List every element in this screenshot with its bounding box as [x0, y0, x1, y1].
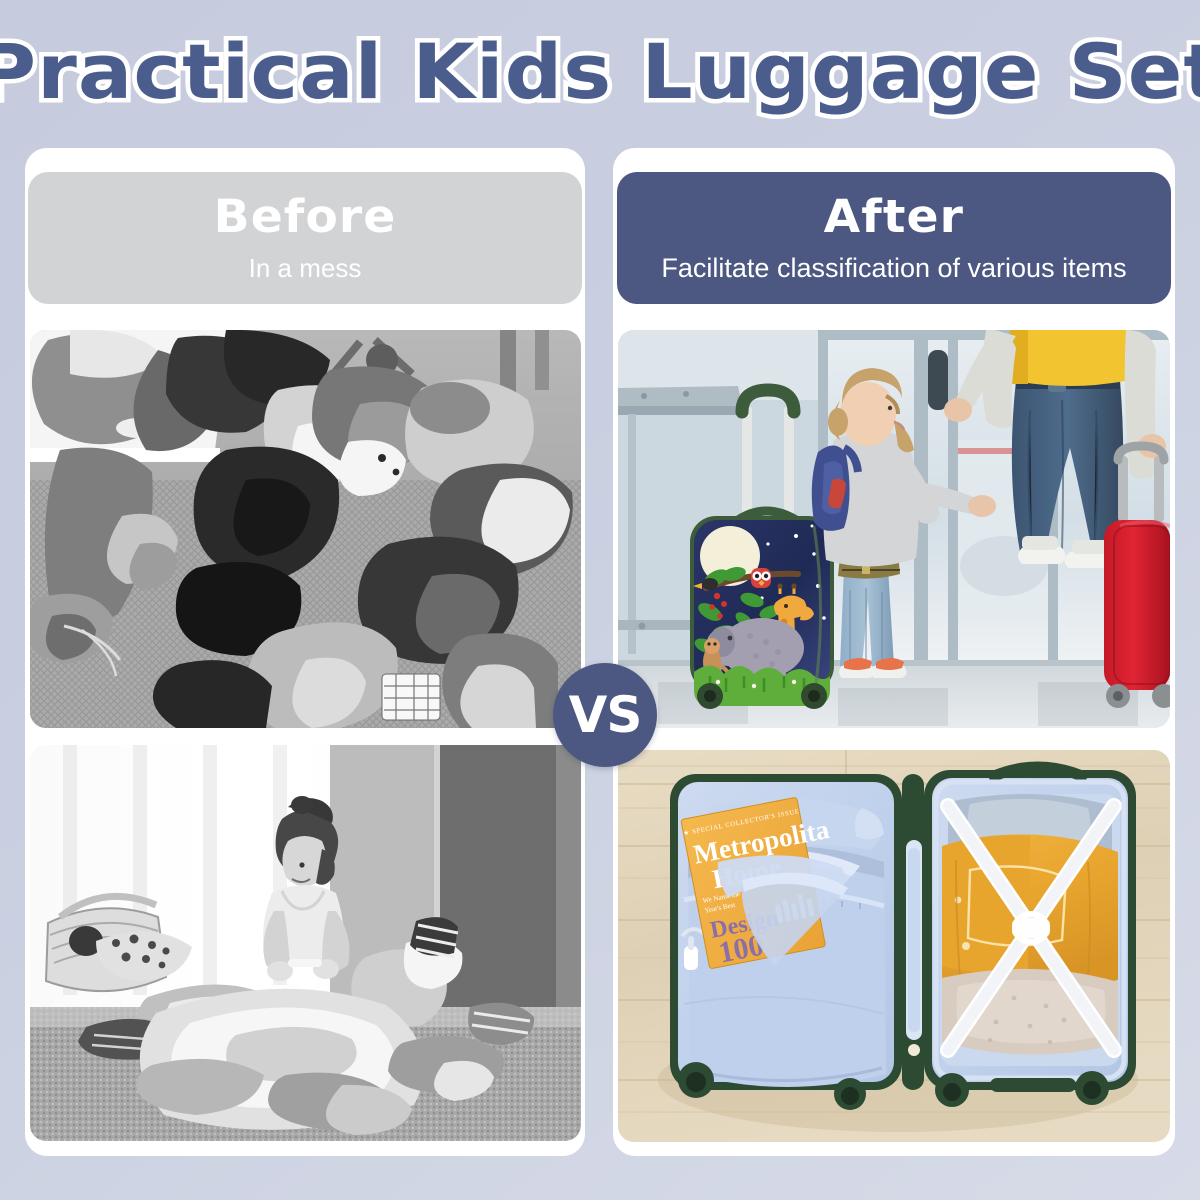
after-heading: After: [824, 193, 964, 241]
messy-pile-illustration: [30, 330, 581, 728]
girl-scene-illustration: [30, 745, 581, 1141]
vs-badge: VS: [553, 663, 657, 767]
before-header-panel: Before In a mess: [28, 172, 582, 304]
product-comparison-graphic: Practical Kids Luggage Set Before In a m…: [0, 0, 1200, 1200]
photo-messy-clothes-pile: [30, 330, 581, 728]
before-subheading: In a mess: [249, 253, 362, 283]
after-header-panel: After Facilitate classification of vario…: [617, 172, 1171, 304]
open-suitcase-illustration: ★ SPECIAL COLLECTOR'S ISSUE Metropolita …: [618, 750, 1170, 1142]
photo-girl-with-scattered-clothes: [30, 745, 581, 1141]
photo-airport-kid-with-luggage: [618, 330, 1170, 728]
page-title: Practical Kids Luggage Set: [0, 28, 1200, 116]
airport-scene-illustration: [618, 330, 1170, 728]
after-subheading: Facilitate classification of various ite…: [661, 253, 1126, 283]
photo-open-packed-suitcase: ★ SPECIAL COLLECTOR'S ISSUE Metropolita …: [618, 750, 1170, 1142]
before-heading: Before: [214, 193, 397, 241]
